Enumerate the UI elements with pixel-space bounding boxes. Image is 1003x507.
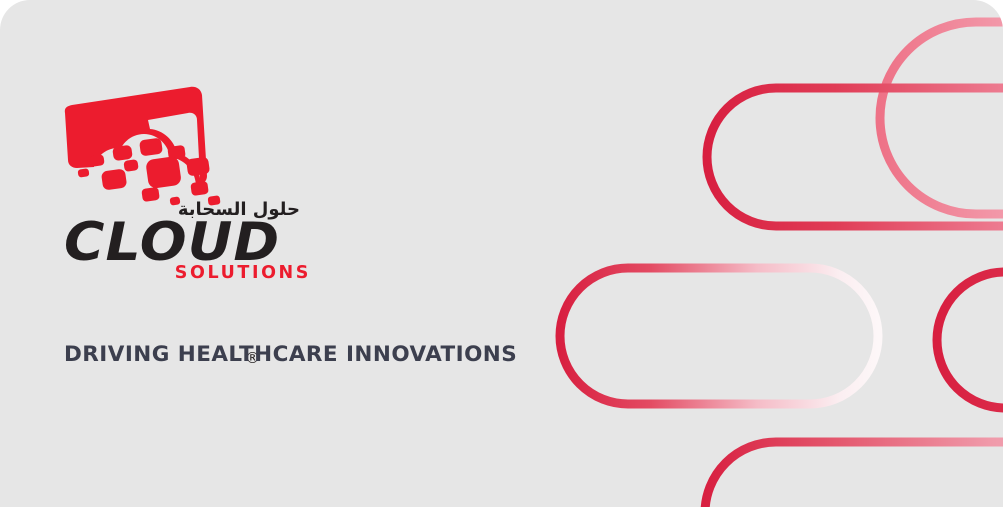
logo-subtitle: SOLUTIONS xyxy=(133,265,311,283)
logo-wordmark-wrap: CLOUD ® xyxy=(64,216,264,269)
page-title: DRIVING HEALTHCARE INNOVATIONS xyxy=(64,342,517,367)
pill-large-red xyxy=(707,88,1003,226)
pill-bottom-pink xyxy=(705,442,1003,507)
pill-middle-fade xyxy=(560,268,878,404)
healthcare-banner: حلول السحابة CLOUD ® SOLUTIONS DRIVING H… xyxy=(0,0,1003,507)
pill-top-pink xyxy=(880,22,1003,214)
company-logo: حلول السحابة CLOUD ® SOLUTIONS xyxy=(64,84,324,209)
logo-wordmark: CLOUD xyxy=(64,216,280,269)
cloud-pixels-logo-icon xyxy=(64,84,254,209)
pill-right-crimson xyxy=(937,272,1003,408)
